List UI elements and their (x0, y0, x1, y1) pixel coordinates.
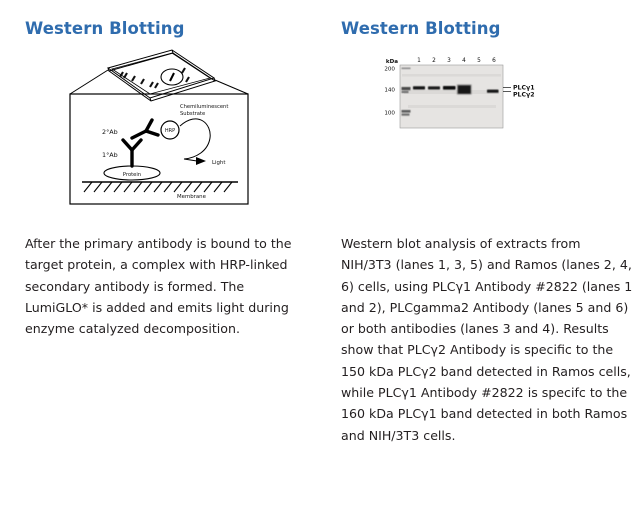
primary-antibody-shape (123, 140, 141, 166)
band-label-plcg2: PLCγ2 (513, 91, 535, 98)
primary-antibody-label: 1°Ab (102, 151, 118, 159)
substrate-label-line1: Chemiluminescent (180, 104, 228, 110)
right-figure-container: kDa 200 140 100 1 (330, 46, 643, 211)
secondary-antibody-label: 2°Ab (102, 128, 118, 136)
page-root: Western Blotting (0, 0, 643, 513)
lane-number-1: 1 (417, 58, 421, 64)
lane-number-5: 5 (477, 58, 481, 64)
secondary-antibody-shape (132, 120, 158, 138)
page-title-right: Western Blotting (341, 19, 643, 38)
lane-number-3: 3 (447, 58, 451, 64)
mw-marker-100: 100 (384, 111, 395, 117)
western-blotting-schematic-diagram: Protein HRP (62, 46, 262, 208)
mw-marker-200: 200 (384, 67, 395, 73)
film-plate-icon (108, 50, 215, 101)
mw-unit-label: kDa (386, 59, 398, 65)
page-title-left: Western Blotting (25, 19, 320, 38)
membrane-label: Membrane (177, 194, 207, 200)
mw-marker-140: 140 (384, 88, 395, 94)
svg-text:Protein: Protein (123, 172, 141, 178)
light-label: Light (212, 160, 225, 166)
western-blot-figure: kDa 200 140 100 1 (378, 50, 578, 150)
right-column: Western Blotting (330, 0, 643, 446)
lane-number-2: 2 (432, 58, 436, 64)
lane-number-6: 6 (492, 58, 496, 64)
left-figure-container: Protein HRP (0, 46, 320, 211)
right-caption-text: Western blot analysis of extracts from N… (341, 233, 633, 446)
left-column: Western Blotting (0, 0, 320, 339)
svg-text:HRP: HRP (165, 128, 175, 134)
left-caption-text: After the primary antibody is bound to t… (25, 233, 303, 339)
lane-number-4: 4 (462, 58, 466, 64)
substrate-label-line2: Substrate (180, 111, 205, 117)
